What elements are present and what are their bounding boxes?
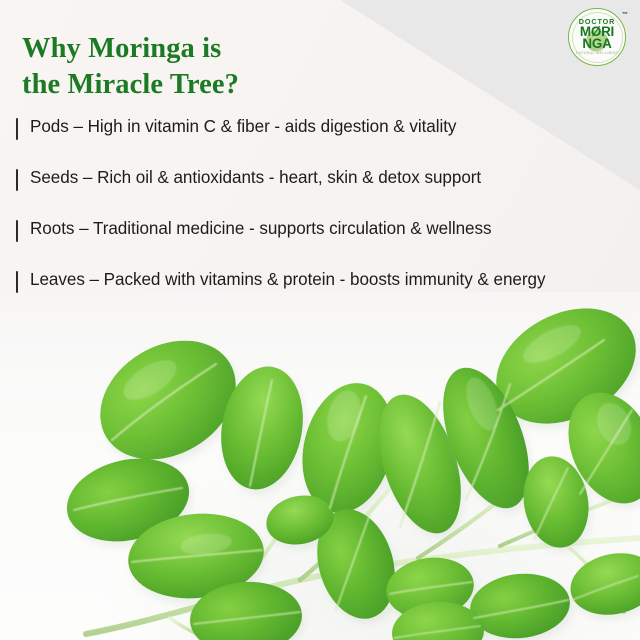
list-item-label: Seeds – Rich oil & antioxidants - heart,… (30, 163, 481, 193)
brand-logo[interactable]: DOCTOR MØRI NGA NATURAL WELLNESS ™ (568, 8, 626, 66)
list-item-leaves: Leaves – Packed with vitamins & protein … (16, 265, 620, 316)
logo-word-bottom: NGA (568, 38, 626, 50)
leaflet-group-left (59, 317, 313, 640)
bullet-bar-icon (16, 220, 18, 242)
bullet-bar-icon (16, 118, 18, 140)
moringa-leaf-photo (0, 288, 640, 640)
list-item-label: Roots – Traditional medicine - supports … (30, 214, 492, 244)
trademark-icon: ™ (622, 12, 628, 18)
page-title-line1: Why Moringa is (22, 33, 221, 64)
promo-graphic: Why Moringa is the Miracle Tree? Pods – … (0, 0, 640, 640)
list-item-label: Pods – High in vitamin C & fiber - aids … (30, 112, 456, 142)
benefit-list: Pods – High in vitamin C & fiber - aids … (16, 112, 620, 316)
list-item-label: Leaves – Packed with vitamins & protein … (30, 265, 545, 295)
bullet-bar-icon (16, 271, 18, 293)
list-item-roots: Roots – Traditional medicine - supports … (16, 214, 620, 265)
list-item-pods: Pods – High in vitamin C & fiber - aids … (16, 112, 620, 163)
list-item-seeds: Seeds – Rich oil & antioxidants - heart,… (16, 163, 620, 214)
page-title: Why Moringa is the Miracle Tree? (22, 31, 422, 103)
bullet-bar-icon (16, 169, 18, 191)
page-title-line2: the Miracle Tree? (22, 67, 422, 103)
logo-tagline: NATURAL WELLNESS (568, 51, 626, 55)
